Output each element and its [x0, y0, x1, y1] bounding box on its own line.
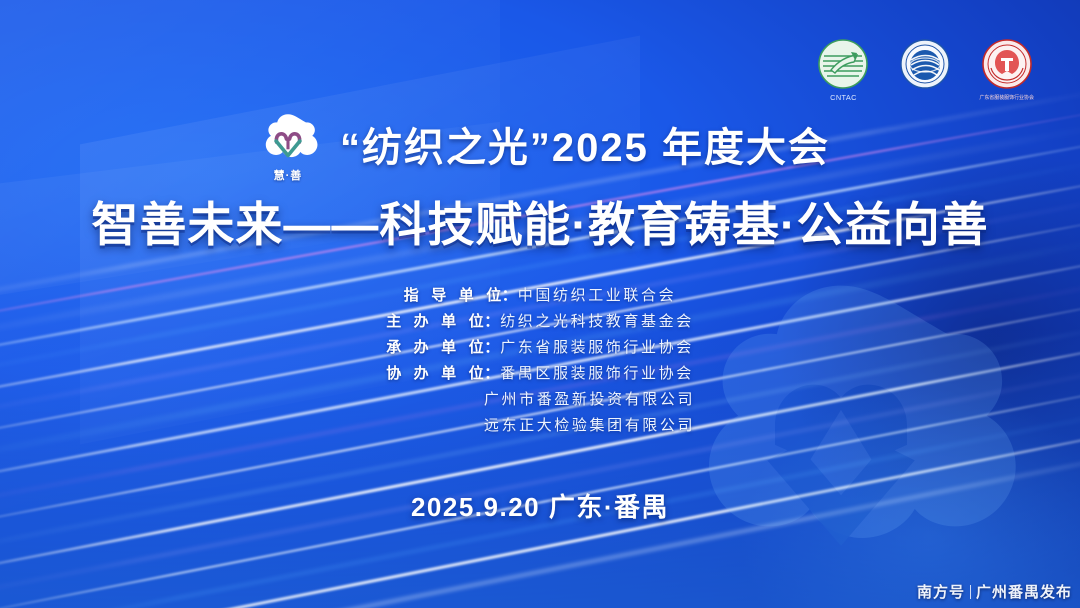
organizer-list: 指导单位：中国纺织工业联合会主办单位：纺织之光科技教育基金会承办单位：广东省服装…	[0, 284, 1080, 440]
guangdong-association-emblem	[981, 38, 1033, 90]
sponsor-guangdong-association[interactable]: 广东省服装服饰行业协会	[976, 38, 1038, 101]
organizer-extra-value: 远东正大检验集团有限公司	[484, 414, 695, 435]
organizer-row: 指导单位：中国纺织工业联合会	[404, 284, 676, 305]
organizer-label: 承办单位	[386, 336, 484, 357]
sponsor-globe[interactable]	[894, 38, 956, 93]
organizer-row: 主办单位：纺织之光科技教育基金会	[386, 310, 694, 331]
title-row: 慧·善 “纺织之光”2025 年度大会	[250, 112, 830, 183]
sponsor-cntac[interactable]: CNTAC	[812, 38, 874, 102]
cotton-boll-heart-logo: 慧·善	[250, 112, 326, 183]
organizer-row: 协办单位：番禺区服装服饰行业协会	[386, 362, 694, 383]
organizer-value: 纺织之光科技教育基金会	[500, 310, 694, 331]
sponsor-logo-group: CNTAC	[812, 38, 1038, 102]
page-title: “纺织之光”2025 年度大会	[340, 128, 830, 168]
organizer-value: 番禺区服装服饰行业协会	[500, 362, 694, 383]
organizer-value: 中国纺织工业联合会	[518, 284, 676, 305]
organizer-colon: ：	[484, 336, 499, 357]
headline-block: 慧·善 “纺织之光”2025 年度大会 智善未来——科技赋能·教育铸基·公益向善	[0, 112, 1080, 248]
cntac-logo	[817, 38, 869, 90]
brand-logo-caption: 慧·善	[274, 167, 303, 183]
guangdong-association-caption: 广东省服装服饰行业协会	[980, 93, 1035, 100]
date-location: 2025.9.20 广东·番禺	[0, 487, 1080, 524]
organizer-extra-value: 广州市番盈新投资有限公司	[484, 388, 695, 409]
cntac-caption: CNTAC	[830, 93, 857, 101]
globe-emblem-logo	[899, 38, 951, 90]
organizer-value: 广东省服装服饰行业协会	[500, 336, 694, 357]
watermark-source: 南方号	[917, 581, 965, 602]
organizer-row: 承办单位：广东省服装服饰行业协会	[386, 336, 694, 357]
organizer-colon: ：	[484, 310, 499, 331]
organizer-colon: ：	[502, 284, 517, 305]
watermark-account: 广州番禺发布	[976, 581, 1072, 602]
organizer-label: 主办单位	[386, 310, 484, 331]
poster-canvas: CNTAC	[0, 0, 1080, 608]
publisher-watermark: 南方号 广州番禺发布	[917, 581, 1072, 602]
organizer-label: 指导单位	[404, 284, 502, 305]
watermark-divider	[970, 585, 971, 599]
page-subtitle: 智善未来——科技赋能·教育铸基·公益向善	[91, 201, 988, 248]
organizer-colon: ：	[484, 362, 499, 383]
organizer-label: 协办单位	[386, 362, 484, 383]
